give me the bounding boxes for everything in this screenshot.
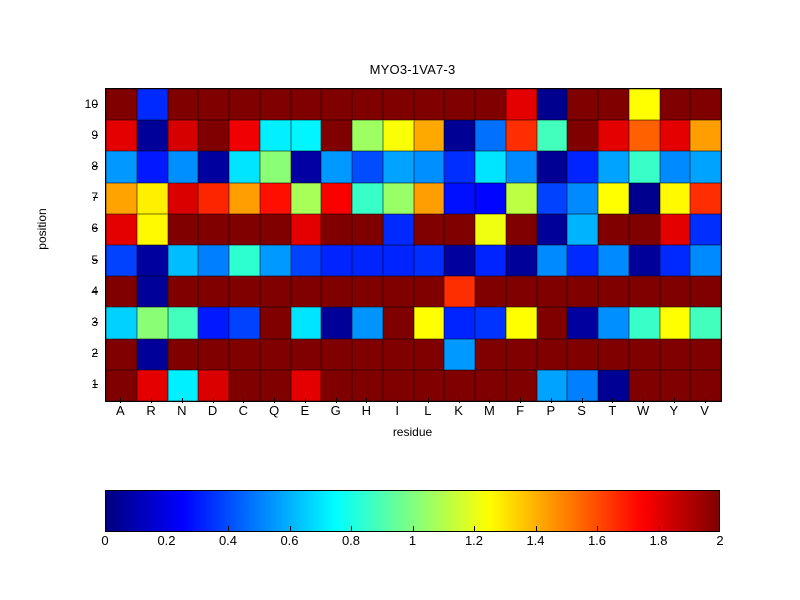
- heatmap-cell: [383, 214, 414, 245]
- matlab-figure: MYO3-1VA7-3 position 10987654321 ARNDCQE…: [0, 0, 800, 600]
- heatmap-cell: [260, 151, 291, 182]
- heatmap-cell: [629, 276, 660, 307]
- heatmap-cell: [106, 245, 137, 276]
- heatmap-cell: [629, 183, 660, 214]
- heatmap-cell: [321, 245, 352, 276]
- heatmap-cell: [598, 151, 629, 182]
- heatmap-cell: [629, 339, 660, 370]
- colorbar-tick-label: 0.4: [198, 533, 258, 548]
- heatmap-cell: [598, 120, 629, 151]
- heatmap-cell: [506, 339, 537, 370]
- heatmap-cell: [444, 120, 475, 151]
- x-tick-mark: [705, 398, 706, 403]
- heatmap-cell: [506, 151, 537, 182]
- colorbar-tick-mark: [413, 526, 414, 532]
- heatmap-cell: [260, 120, 291, 151]
- heatmap-cell: [321, 307, 352, 338]
- x-tick-label: M: [474, 403, 504, 418]
- heatmap-cell: [321, 151, 352, 182]
- heatmap-cell: [537, 245, 568, 276]
- heatmap-cell: [106, 89, 137, 120]
- heatmap-cell: [198, 120, 229, 151]
- heatmap-cell: [229, 276, 260, 307]
- y-tick-mark: [93, 166, 98, 167]
- heatmap-cell: [598, 214, 629, 245]
- heatmap-cell: [291, 307, 322, 338]
- heatmap-cell: [660, 307, 691, 338]
- x-tick-label: V: [690, 403, 720, 418]
- heatmap-cell: [414, 370, 445, 401]
- heatmap-cell: [414, 89, 445, 120]
- heatmap-cell: [321, 370, 352, 401]
- heatmap-cell: [260, 370, 291, 401]
- x-tick-mark: [366, 398, 367, 403]
- colorbar-tick-mark: [659, 526, 660, 532]
- x-tick-label: G: [321, 403, 351, 418]
- heatmap-cell: [383, 307, 414, 338]
- heatmap-cell: [598, 339, 629, 370]
- heatmap-cell: [168, 370, 199, 401]
- heatmap-cell: [198, 151, 229, 182]
- y-tick-mark: [93, 322, 98, 323]
- heatmap-grid: [106, 89, 721, 401]
- heatmap-cell: [260, 276, 291, 307]
- heatmap-cell: [291, 183, 322, 214]
- heatmap-cell: [444, 307, 475, 338]
- heatmap-cell: [414, 214, 445, 245]
- x-tick-mark: [336, 398, 337, 403]
- heatmap-cell: [506, 214, 537, 245]
- x-tick-mark: [213, 398, 214, 403]
- heatmap-cell: [690, 183, 721, 214]
- heatmap-cell: [291, 370, 322, 401]
- heatmap-cell: [321, 120, 352, 151]
- heatmap-cell: [567, 307, 598, 338]
- colorbar-ticks: 00.20.40.60.811.21.41.61.82: [105, 532, 720, 554]
- colorbar-tick-label: 1.2: [444, 533, 504, 548]
- heatmap-cell: [229, 151, 260, 182]
- heatmap-cell: [414, 276, 445, 307]
- x-tick-label: T: [597, 403, 627, 418]
- heatmap-cell: [690, 370, 721, 401]
- heatmap-cell: [690, 151, 721, 182]
- colorbar-tick-mark: [290, 526, 291, 532]
- heatmap-cell: [229, 245, 260, 276]
- heatmap-cell: [106, 307, 137, 338]
- heatmap-cell: [352, 120, 383, 151]
- heatmap-cell: [198, 245, 229, 276]
- heatmap-cell: [660, 89, 691, 120]
- x-tick-label: E: [290, 403, 320, 418]
- heatmap-cell: [598, 245, 629, 276]
- x-tick-label: W: [628, 403, 658, 418]
- heatmap-cell: [629, 307, 660, 338]
- heatmap-cell: [352, 183, 383, 214]
- x-tick-label: K: [444, 403, 474, 418]
- heatmap-cell: [321, 89, 352, 120]
- x-tick-mark: [274, 398, 275, 403]
- colorbar-tick-mark: [105, 526, 106, 532]
- colorbar-tick-label: 0: [75, 533, 135, 548]
- x-tick-mark: [643, 398, 644, 403]
- heatmap-cell: [260, 89, 291, 120]
- y-tick-mark: [93, 104, 98, 105]
- heatmap-cell: [383, 245, 414, 276]
- heatmap-cell: [383, 370, 414, 401]
- y-tick-mark: [93, 291, 98, 292]
- heatmap-cell: [444, 245, 475, 276]
- heatmap-cell: [137, 151, 168, 182]
- heatmap-cell: [106, 214, 137, 245]
- heatmap-cell: [537, 214, 568, 245]
- heatmap-cell: [352, 151, 383, 182]
- x-tick-label: N: [167, 403, 197, 418]
- heatmap-cell: [475, 89, 506, 120]
- heatmap-cell: [229, 120, 260, 151]
- heatmap-cell: [475, 214, 506, 245]
- heatmap-cell: [660, 245, 691, 276]
- heatmap-cell: [137, 339, 168, 370]
- heatmap-cell: [475, 370, 506, 401]
- heatmap-cell: [352, 370, 383, 401]
- x-tick-label: C: [228, 403, 258, 418]
- heatmap-cell: [660, 276, 691, 307]
- heatmap-cell: [506, 183, 537, 214]
- heatmap-cell: [506, 245, 537, 276]
- heatmap-cell: [198, 276, 229, 307]
- heatmap-cell: [260, 307, 291, 338]
- heatmap-cell: [506, 89, 537, 120]
- heatmap-cell: [383, 276, 414, 307]
- heatmap-cell: [506, 370, 537, 401]
- heatmap-cell: [567, 89, 598, 120]
- heatmap-cell: [168, 120, 199, 151]
- x-tick-label: Q: [259, 403, 289, 418]
- x-tick-label: F: [505, 403, 535, 418]
- heatmap-cell: [291, 89, 322, 120]
- heatmap-cell: [229, 307, 260, 338]
- heatmap-cell: [660, 120, 691, 151]
- heatmap-cell: [629, 245, 660, 276]
- heatmap-cell: [475, 183, 506, 214]
- x-tick-mark: [520, 398, 521, 403]
- heatmap-plot-area: [105, 88, 722, 402]
- heatmap-cell: [229, 89, 260, 120]
- heatmap-cell: [106, 276, 137, 307]
- heatmap-cell: [352, 339, 383, 370]
- heatmap-cell: [137, 370, 168, 401]
- heatmap-cell: [660, 214, 691, 245]
- heatmap-cell: [352, 245, 383, 276]
- heatmap-cell: [537, 89, 568, 120]
- heatmap-cell: [537, 276, 568, 307]
- colorbar-tick-label: 0.2: [137, 533, 197, 548]
- heatmap-cell: [168, 339, 199, 370]
- heatmap-cell: [414, 339, 445, 370]
- heatmap-cell: [137, 183, 168, 214]
- heatmap-cell: [660, 183, 691, 214]
- heatmap-cell: [260, 214, 291, 245]
- heatmap-cell: [629, 120, 660, 151]
- heatmap-cell: [567, 214, 598, 245]
- heatmap-cell: [106, 339, 137, 370]
- x-tick-mark: [151, 398, 152, 403]
- heatmap-cell: [383, 151, 414, 182]
- colorbar-tick-label: 1.4: [506, 533, 566, 548]
- heatmap-cell: [198, 307, 229, 338]
- heatmap-cell: [567, 120, 598, 151]
- heatmap-cell: [537, 307, 568, 338]
- x-tick-label: A: [105, 403, 135, 418]
- heatmap-cell: [414, 307, 445, 338]
- heatmap-cell: [690, 276, 721, 307]
- x-tick-mark: [459, 398, 460, 403]
- x-tick-label: L: [413, 403, 443, 418]
- heatmap-cell: [198, 339, 229, 370]
- heatmap-cell: [690, 307, 721, 338]
- heatmap-cell: [629, 151, 660, 182]
- heatmap-cell: [660, 370, 691, 401]
- heatmap-cell: [168, 214, 199, 245]
- heatmap-cell: [137, 276, 168, 307]
- heatmap-cell: [475, 151, 506, 182]
- x-tick-mark: [243, 398, 244, 403]
- heatmap-cell: [537, 151, 568, 182]
- heatmap-cell: [690, 120, 721, 151]
- heatmap-cell: [475, 339, 506, 370]
- heatmap-cell: [260, 339, 291, 370]
- heatmap-cell: [260, 245, 291, 276]
- heatmap-cell: [137, 120, 168, 151]
- heatmap-cell: [137, 307, 168, 338]
- colorbar-tick-label: 2: [690, 533, 750, 548]
- heatmap-cell: [690, 214, 721, 245]
- heatmap-cell: [537, 120, 568, 151]
- colorbar-tick-mark: [597, 526, 598, 532]
- x-tick-mark: [612, 398, 613, 403]
- x-tick-label: Y: [659, 403, 689, 418]
- heatmap-cell: [690, 89, 721, 120]
- heatmap-cell: [383, 89, 414, 120]
- heatmap-cell: [567, 151, 598, 182]
- heatmap-cell: [168, 245, 199, 276]
- heatmap-cell: [106, 183, 137, 214]
- x-axis-label: residue: [105, 425, 720, 439]
- y-tick-mark: [93, 353, 98, 354]
- x-tick-mark: [428, 398, 429, 403]
- colorbar-tick-label: 0.6: [260, 533, 320, 548]
- heatmap-cell: [414, 120, 445, 151]
- heatmap-cell: [352, 214, 383, 245]
- heatmap-cell: [567, 339, 598, 370]
- heatmap-cell: [321, 276, 352, 307]
- y-tick-mark: [93, 384, 98, 385]
- heatmap-cell: [198, 214, 229, 245]
- heatmap-cell: [198, 370, 229, 401]
- heatmap-cell: [629, 89, 660, 120]
- heatmap-cell: [383, 183, 414, 214]
- heatmap-cell: [567, 245, 598, 276]
- colorbar-tick-mark: [351, 526, 352, 532]
- heatmap-cell: [475, 120, 506, 151]
- heatmap-cell: [537, 339, 568, 370]
- heatmap-cell: [321, 214, 352, 245]
- heatmap-cell: [321, 339, 352, 370]
- heatmap-cell: [537, 183, 568, 214]
- heatmap-cell: [168, 183, 199, 214]
- colorbar-tick-mark: [167, 526, 168, 532]
- heatmap-cell: [106, 370, 137, 401]
- heatmap-cell: [229, 370, 260, 401]
- heatmap-cell: [260, 183, 291, 214]
- heatmap-cell: [598, 89, 629, 120]
- x-tick-mark: [397, 398, 398, 403]
- colorbar-tick-label: 1.6: [567, 533, 627, 548]
- heatmap-cell: [444, 151, 475, 182]
- x-tick-mark: [182, 398, 183, 403]
- x-tick-label: D: [198, 403, 228, 418]
- heatmap-cell: [291, 151, 322, 182]
- heatmap-cell: [475, 245, 506, 276]
- heatmap-cell: [198, 183, 229, 214]
- heatmap-cell: [137, 245, 168, 276]
- x-tick-label: H: [351, 403, 381, 418]
- heatmap-cell: [567, 276, 598, 307]
- colorbar: 00.20.40.60.811.21.41.61.82: [105, 490, 720, 532]
- x-tick-mark: [489, 398, 490, 403]
- colorbar-tick-label: 1.8: [629, 533, 689, 548]
- heatmap-cell: [291, 276, 322, 307]
- heatmap-cell: [106, 151, 137, 182]
- x-tick-mark: [551, 398, 552, 403]
- x-tick-label: R: [136, 403, 166, 418]
- heatmap-cell: [168, 276, 199, 307]
- heatmap-cell: [352, 307, 383, 338]
- heatmap-cell: [352, 89, 383, 120]
- heatmap-cell: [690, 339, 721, 370]
- x-tick-mark: [120, 398, 121, 403]
- heatmap-cell: [198, 89, 229, 120]
- heatmap-cell: [291, 120, 322, 151]
- colorbar-tick-mark: [719, 526, 720, 532]
- heatmap-cell: [506, 276, 537, 307]
- heatmap-cell: [291, 214, 322, 245]
- heatmap-cell: [137, 89, 168, 120]
- colorbar-tick-mark: [228, 526, 229, 532]
- heatmap-cell: [537, 370, 568, 401]
- heatmap-cell: [598, 307, 629, 338]
- heatmap-cell: [444, 183, 475, 214]
- y-axis-ticks: 10987654321: [60, 88, 98, 400]
- heatmap-cell: [291, 245, 322, 276]
- x-tick-label: S: [567, 403, 597, 418]
- colorbar-tick-mark: [474, 526, 475, 532]
- y-tick-mark: [93, 228, 98, 229]
- heatmap-cell: [444, 339, 475, 370]
- heatmap-cell: [629, 214, 660, 245]
- heatmap-cell: [414, 183, 445, 214]
- page-title: MYO3-1VA7-3: [105, 62, 720, 77]
- heatmap-cell: [168, 151, 199, 182]
- heatmap-cell: [444, 89, 475, 120]
- y-tick-mark: [93, 197, 98, 198]
- heatmap-cell: [414, 245, 445, 276]
- heatmap-cell: [383, 339, 414, 370]
- heatmap-cell: [629, 370, 660, 401]
- y-axis-label: position: [35, 174, 49, 284]
- x-tick-mark: [305, 398, 306, 403]
- colorbar-tick-label: 1: [383, 533, 443, 548]
- heatmap-cell: [690, 245, 721, 276]
- heatmap-cell: [229, 183, 260, 214]
- heatmap-cell: [660, 339, 691, 370]
- heatmap-cell: [598, 370, 629, 401]
- y-tick-mark: [93, 260, 98, 261]
- x-axis-ticks: ARNDCQEGHILKMFPSTWYV: [105, 403, 720, 421]
- x-tick-mark: [582, 398, 583, 403]
- heatmap-cell: [168, 89, 199, 120]
- colorbar-tick-mark: [536, 526, 537, 532]
- heatmap-cell: [321, 183, 352, 214]
- x-tick-mark: [674, 398, 675, 403]
- heatmap-cell: [475, 307, 506, 338]
- y-tick-mark: [93, 135, 98, 136]
- heatmap-cell: [660, 151, 691, 182]
- heatmap-cell: [229, 214, 260, 245]
- heatmap-cell: [506, 307, 537, 338]
- x-tick-label: I: [382, 403, 412, 418]
- heatmap-cell: [444, 214, 475, 245]
- heatmap-cell: [229, 339, 260, 370]
- heatmap-cell: [567, 370, 598, 401]
- heatmap-cell: [352, 276, 383, 307]
- heatmap-cell: [475, 276, 506, 307]
- heatmap-cell: [168, 307, 199, 338]
- colorbar-tick-label: 0.8: [321, 533, 381, 548]
- heatmap-cell: [444, 370, 475, 401]
- heatmap-cell: [414, 151, 445, 182]
- heatmap-cell: [598, 183, 629, 214]
- heatmap-cell: [106, 120, 137, 151]
- heatmap-cell: [137, 214, 168, 245]
- x-tick-label: P: [536, 403, 566, 418]
- heatmap-cell: [567, 183, 598, 214]
- heatmap-cell: [291, 339, 322, 370]
- heatmap-cell: [444, 276, 475, 307]
- heatmap-cell: [506, 120, 537, 151]
- heatmap-cell: [598, 276, 629, 307]
- heatmap-cell: [383, 120, 414, 151]
